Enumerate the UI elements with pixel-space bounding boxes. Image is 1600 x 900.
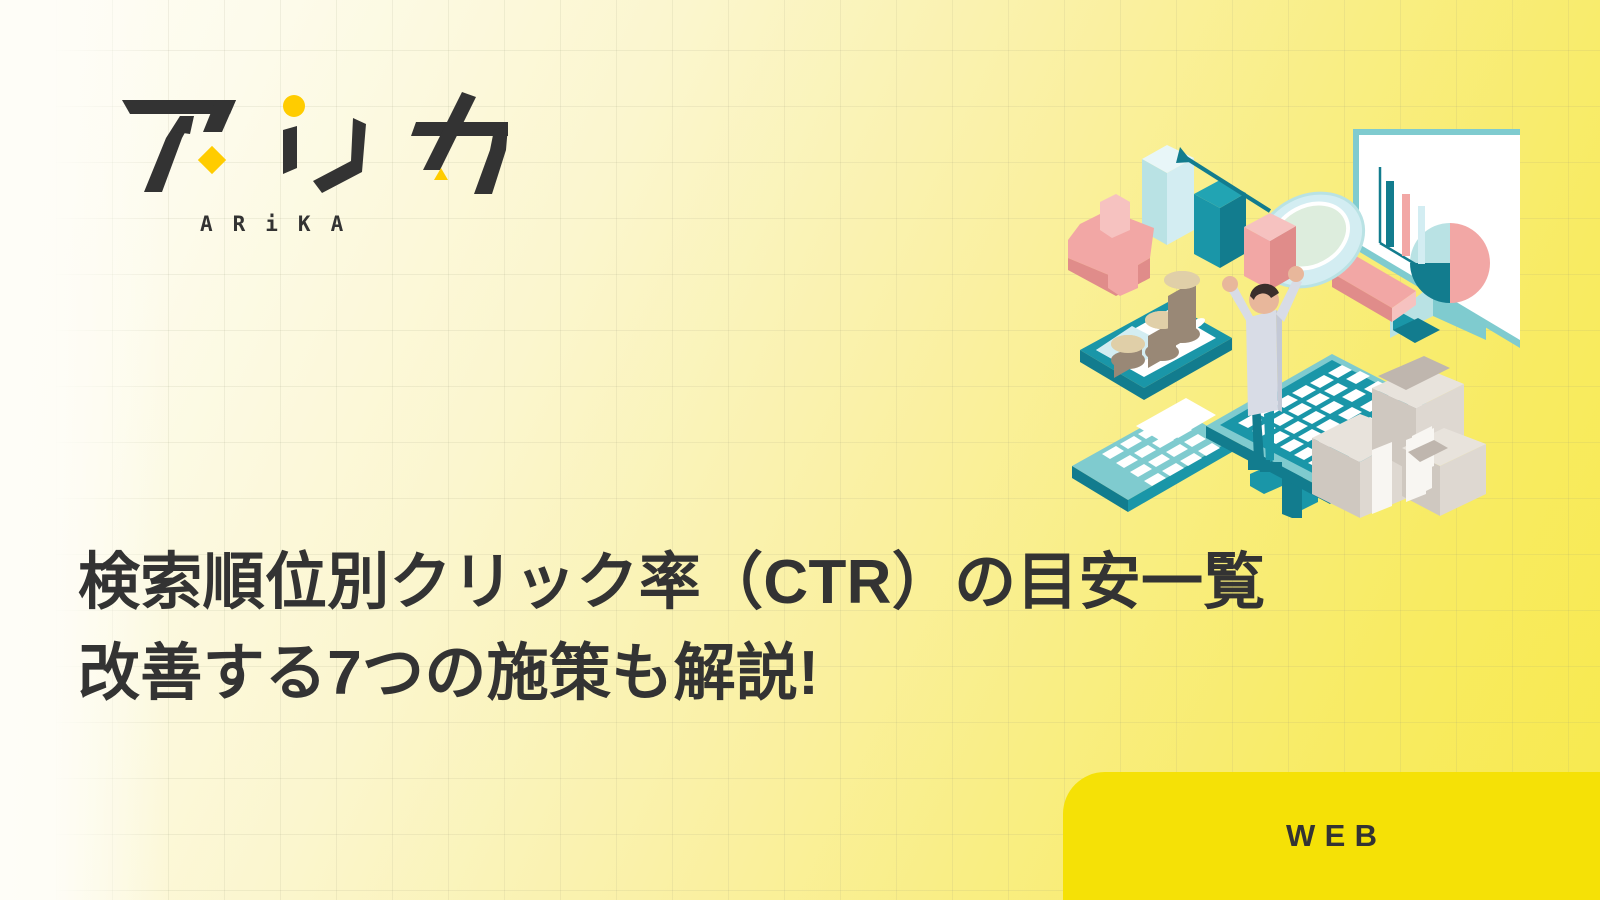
category-badge[interactable]: WEB <box>1063 772 1600 900</box>
page-title: 検索順位別クリック率（CTR）の目安一覧 改善する7つの施策も解説! <box>78 538 1478 719</box>
logo-katakana-arika-icon <box>104 88 534 218</box>
site-logo[interactable]: ARiKA <box>104 88 534 248</box>
monitor-icon <box>1353 129 1520 348</box>
isometric-seo-scene-icon <box>1020 118 1520 518</box>
dollar-sign-icon <box>1068 194 1154 296</box>
hero-illustration <box>1020 118 1520 518</box>
calculator-icon <box>1072 398 1232 512</box>
category-badge-label: WEB <box>1277 818 1387 854</box>
isometric-bar-chart-icon <box>1142 145 1296 290</box>
logo-wordmark: ARiKA <box>200 212 363 236</box>
hero-banner: ARiKA <box>0 0 1600 900</box>
